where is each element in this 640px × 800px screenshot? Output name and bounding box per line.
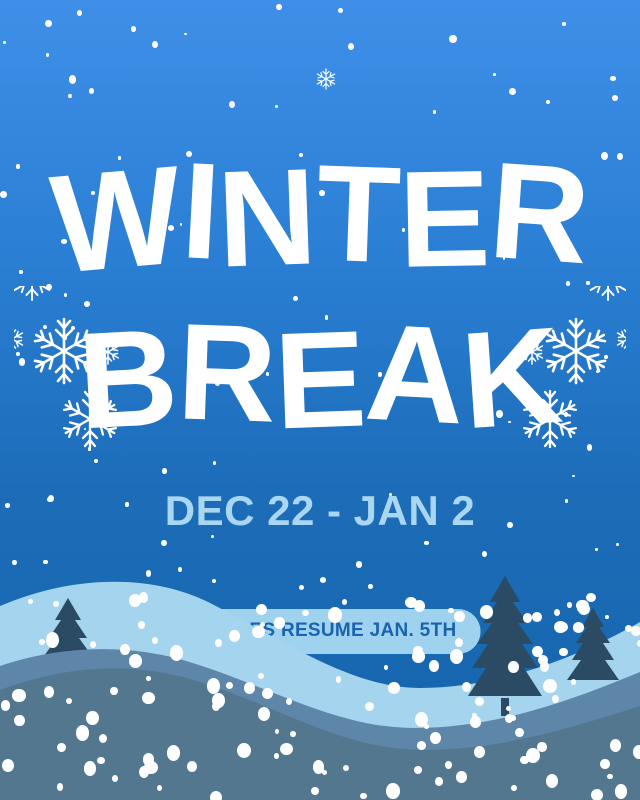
- snow-dot: [213, 461, 217, 466]
- page-title-line-1: WINTER: [0, 148, 640, 285]
- snow-dot: [482, 551, 487, 557]
- snow-dot: [612, 95, 618, 101]
- title-letter: B: [75, 309, 180, 451]
- date-range-text: DEC 22 - JAN 2: [0, 487, 640, 535]
- snow-dot: [424, 541, 429, 546]
- snow-dot: [162, 468, 167, 474]
- winter-landscape: [0, 560, 640, 800]
- snow-dot: [131, 26, 137, 32]
- snow-dot: [616, 543, 619, 547]
- snow-dot: [45, 20, 52, 28]
- snow-dot: [152, 41, 158, 48]
- snow-dot: [229, 101, 235, 108]
- title-letter: K: [458, 307, 565, 450]
- snow-dot: [276, 4, 282, 11]
- page-title-line-2: BREAK: [0, 308, 640, 445]
- snow-dot: [46, 53, 49, 57]
- title-letter: W: [46, 145, 186, 295]
- snow-dot: [211, 535, 214, 538]
- snow-dot: [77, 10, 82, 16]
- winter-break-poster: WINTER BREAK DEC 22 - JAN 2 CLASSES RESU…: [0, 0, 640, 800]
- snow-dot: [69, 75, 76, 84]
- title-letter: E: [397, 150, 490, 289]
- snow-dot: [572, 475, 575, 478]
- snow-dot: [94, 459, 98, 463]
- title-letter: E: [272, 310, 367, 450]
- snow-dot: [449, 35, 456, 43]
- snow-dot: [275, 105, 278, 108]
- snow-dot: [595, 548, 598, 552]
- snow-dot: [161, 540, 167, 547]
- snow-dot: [68, 94, 72, 99]
- title-letter: N: [215, 148, 318, 288]
- title-letter: T: [314, 145, 401, 285]
- snowflake-small-top: [313, 66, 339, 92]
- snow-dot: [293, 296, 298, 301]
- snow-dot: [610, 76, 615, 81]
- snow-dot: [493, 73, 496, 76]
- snow-dot: [3, 41, 6, 44]
- snow-dot: [433, 110, 436, 113]
- snow-dot: [509, 88, 516, 95]
- snow-dot: [338, 8, 343, 13]
- snow-dot: [546, 100, 550, 104]
- title-letter: R: [175, 303, 278, 443]
- snow-dot: [348, 43, 354, 50]
- snow-dot: [562, 22, 566, 26]
- title-letter: A: [362, 304, 467, 446]
- snow-dot: [184, 33, 187, 36]
- snow-dot: [89, 88, 94, 94]
- title-letter: R: [486, 142, 593, 285]
